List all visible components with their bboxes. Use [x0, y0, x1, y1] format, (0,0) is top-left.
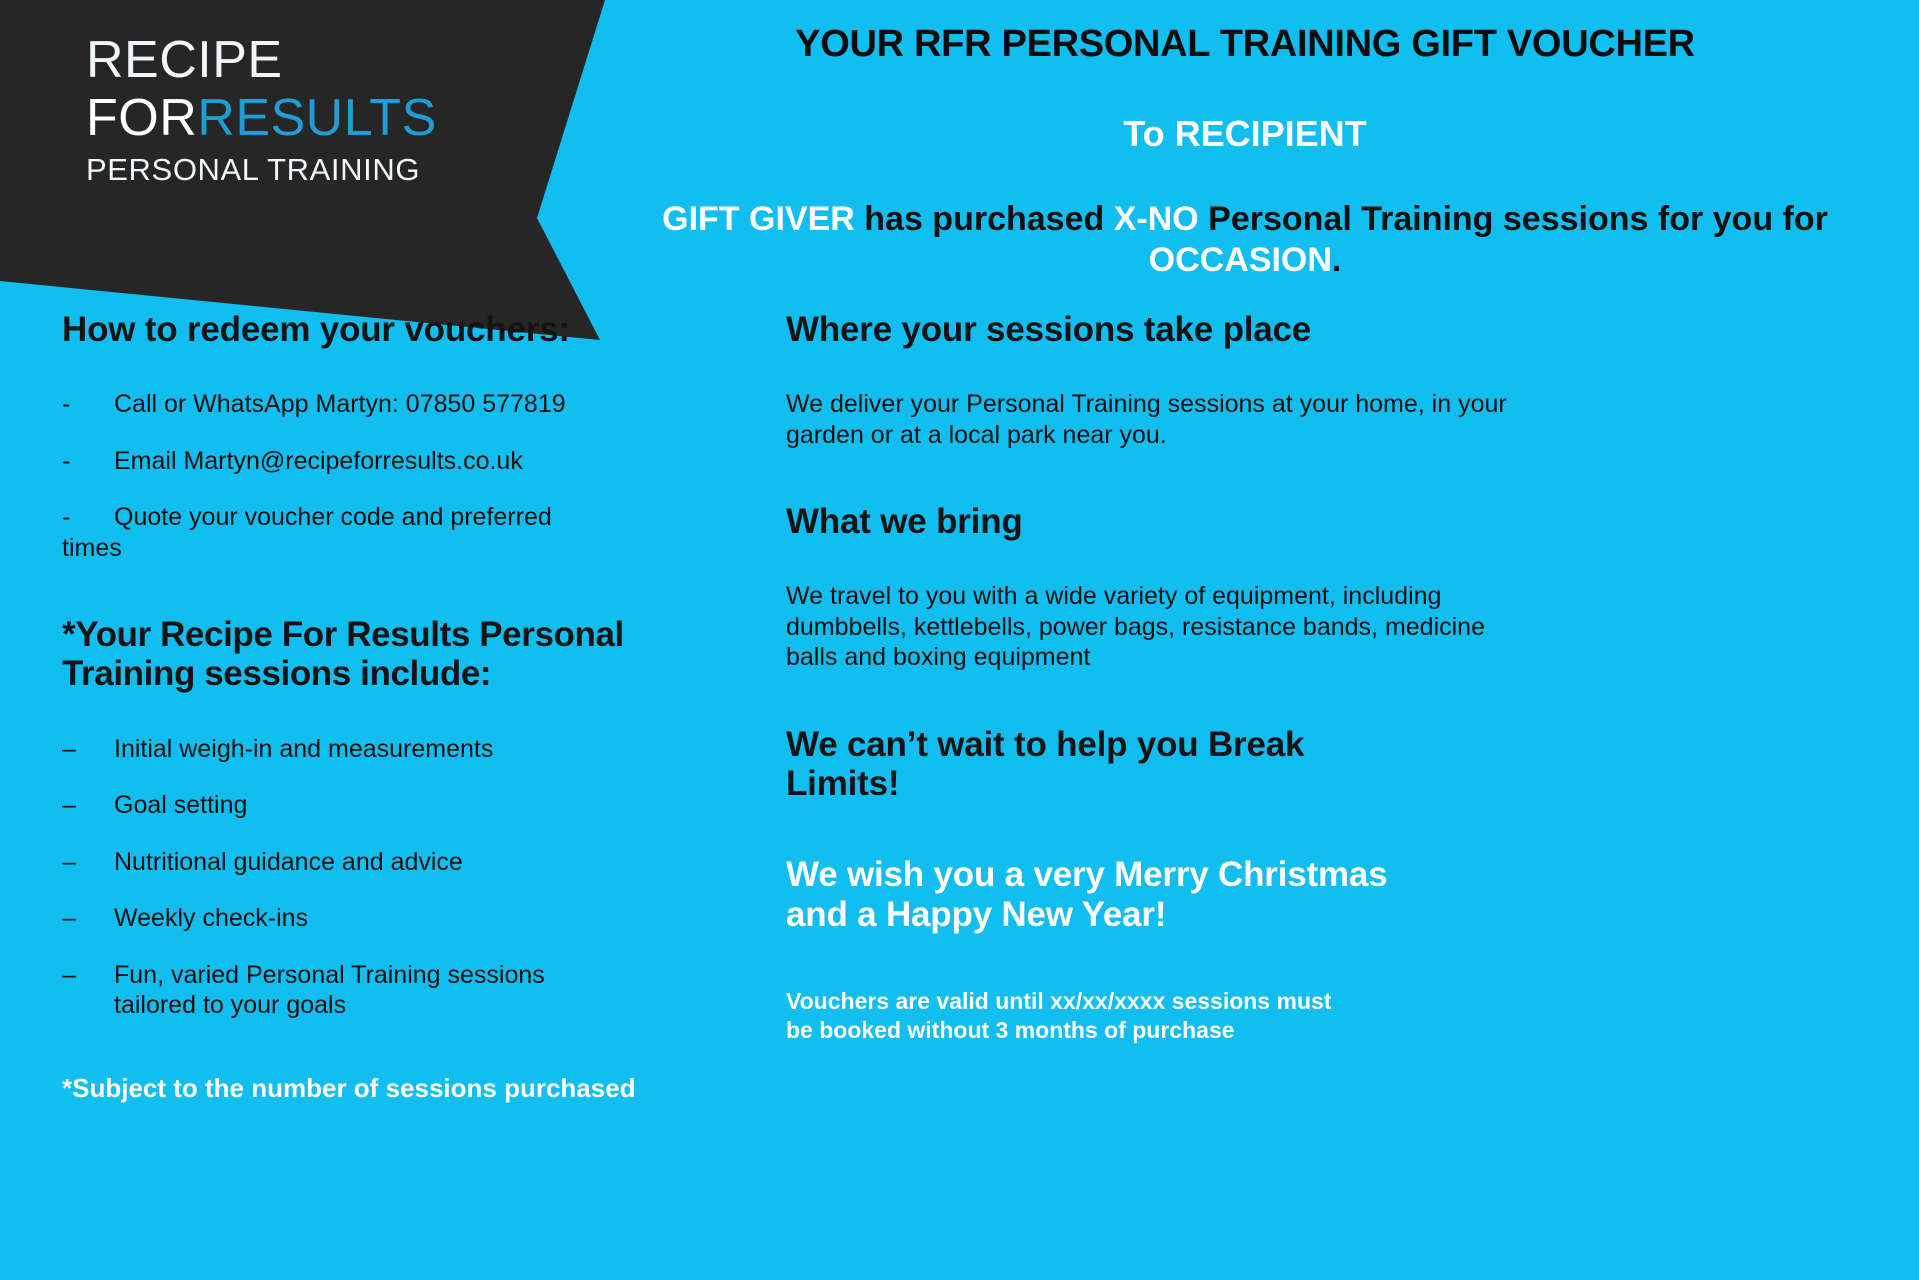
where-body-text: We deliver your Personal Training sessio… — [786, 389, 1526, 450]
includes-list: –Initial weigh-in and measurements –Goal… — [62, 734, 762, 1021]
session-quantity-placeholder: X-NO — [1114, 200, 1199, 238]
what-we-bring-body-text: We travel to you with a wide variety of … — [786, 581, 1526, 673]
list-marker: – — [62, 847, 114, 878]
list-item: -Call or WhatsApp Martyn: 07850 577819 — [62, 389, 762, 420]
right-column: Where your sessions take place We delive… — [786, 310, 1526, 1044]
list-item: –Nutritional guidance and advice — [62, 847, 762, 878]
list-marker: – — [62, 903, 114, 934]
list-marker: – — [62, 960, 114, 991]
list-marker: – — [62, 734, 114, 765]
list-item-continuation: times — [62, 533, 762, 564]
logo-line-recipe: RECIPE — [86, 34, 437, 86]
voucher-header: YOUR RFR PERSONAL TRAINING GIFT VOUCHER … — [600, 16, 1890, 280]
list-item-label: Nutritional guidance and advice — [114, 848, 463, 876]
redeem-list: -Call or WhatsApp Martyn: 07850 577819 -… — [62, 389, 762, 563]
purchase-end-period: . — [1332, 241, 1341, 279]
purchase-mid-text-1: has purchased — [855, 200, 1114, 238]
logo-line-personal-training: PERSONAL TRAINING — [86, 154, 437, 185]
includes-heading-line-2: Training sessions include: — [62, 654, 762, 693]
list-item-label: Email Martyn@recipeforresults.co.uk — [114, 447, 523, 475]
list-marker: - — [62, 502, 114, 533]
validity-line-1: Vouchers are valid until xx/xx/xxxx sess… — [786, 987, 1526, 1016]
list-marker: - — [62, 446, 114, 477]
greeting-line-1: We wish you a very Merry Christmas — [786, 855, 1526, 895]
list-item-label: Quote your voucher code and preferred — [114, 503, 552, 531]
purchase-statement: GIFT GIVER has purchased X-NO Personal T… — [600, 199, 1890, 279]
purchase-mid-text-2: Personal Training sessions for you for — [1199, 200, 1828, 238]
list-item-label: Weekly check-ins — [114, 904, 308, 932]
list-item: -Quote your voucher code and preferred t… — [62, 502, 762, 563]
includes-heading-line-1: *Your Recipe For Results Personal — [62, 615, 762, 654]
voucher-title: YOUR RFR PERSONAL TRAINING GIFT VOUCHER — [600, 24, 1890, 66]
where-heading: Where your sessions take place — [786, 310, 1526, 349]
greeting-line-2: and a Happy New Year! — [786, 895, 1526, 935]
validity-line-2: be booked without 3 months of purchase — [786, 1016, 1526, 1045]
list-item-continuation: tailored to your goals — [62, 990, 762, 1021]
logo-line-for-results: FORRESULTS — [86, 92, 437, 144]
what-we-bring-heading: What we bring — [786, 502, 1526, 541]
logo-word-results: RESULTS — [197, 89, 436, 147]
logo-word-for: FOR — [86, 89, 197, 147]
list-item: –Weekly check-ins — [62, 903, 762, 934]
occasion-placeholder: OCCASION — [1149, 241, 1332, 279]
left-column: How to redeem your vouchers: -Call or Wh… — [62, 310, 762, 1104]
list-item: –Initial weigh-in and measurements — [62, 734, 762, 765]
list-item: -Email Martyn@recipeforresults.co.uk — [62, 446, 762, 477]
brand-logo: RECIPE FORRESULTS PERSONAL TRAINING — [86, 34, 437, 185]
break-limits-line-1: We can’t wait to help you Break — [786, 725, 1526, 764]
list-item: –Fun, varied Personal Training sessions … — [62, 960, 762, 1021]
list-item-label: Goal setting — [114, 791, 247, 819]
break-limits-line-2: Limits! — [786, 764, 1526, 803]
includes-footnote: *Subject to the number of sessions purch… — [62, 1073, 762, 1104]
list-item-label: Fun, varied Personal Training sessions — [114, 961, 545, 989]
recipient-line: To RECIPIENT — [600, 114, 1890, 154]
bottom-accent-strip — [0, 1254, 1919, 1280]
list-item-label: Initial weigh-in and measurements — [114, 735, 493, 763]
list-marker: – — [62, 790, 114, 821]
list-marker: - — [62, 389, 114, 420]
gift-giver-placeholder: GIFT GIVER — [662, 200, 855, 238]
gift-voucher-card: RECIPE FORRESULTS PERSONAL TRAINING YOUR… — [0, 0, 1919, 1280]
list-item: –Goal setting — [62, 790, 762, 821]
redeem-heading: How to redeem your vouchers: — [62, 310, 762, 349]
list-item-label: Call or WhatsApp Martyn: 07850 577819 — [114, 390, 566, 418]
